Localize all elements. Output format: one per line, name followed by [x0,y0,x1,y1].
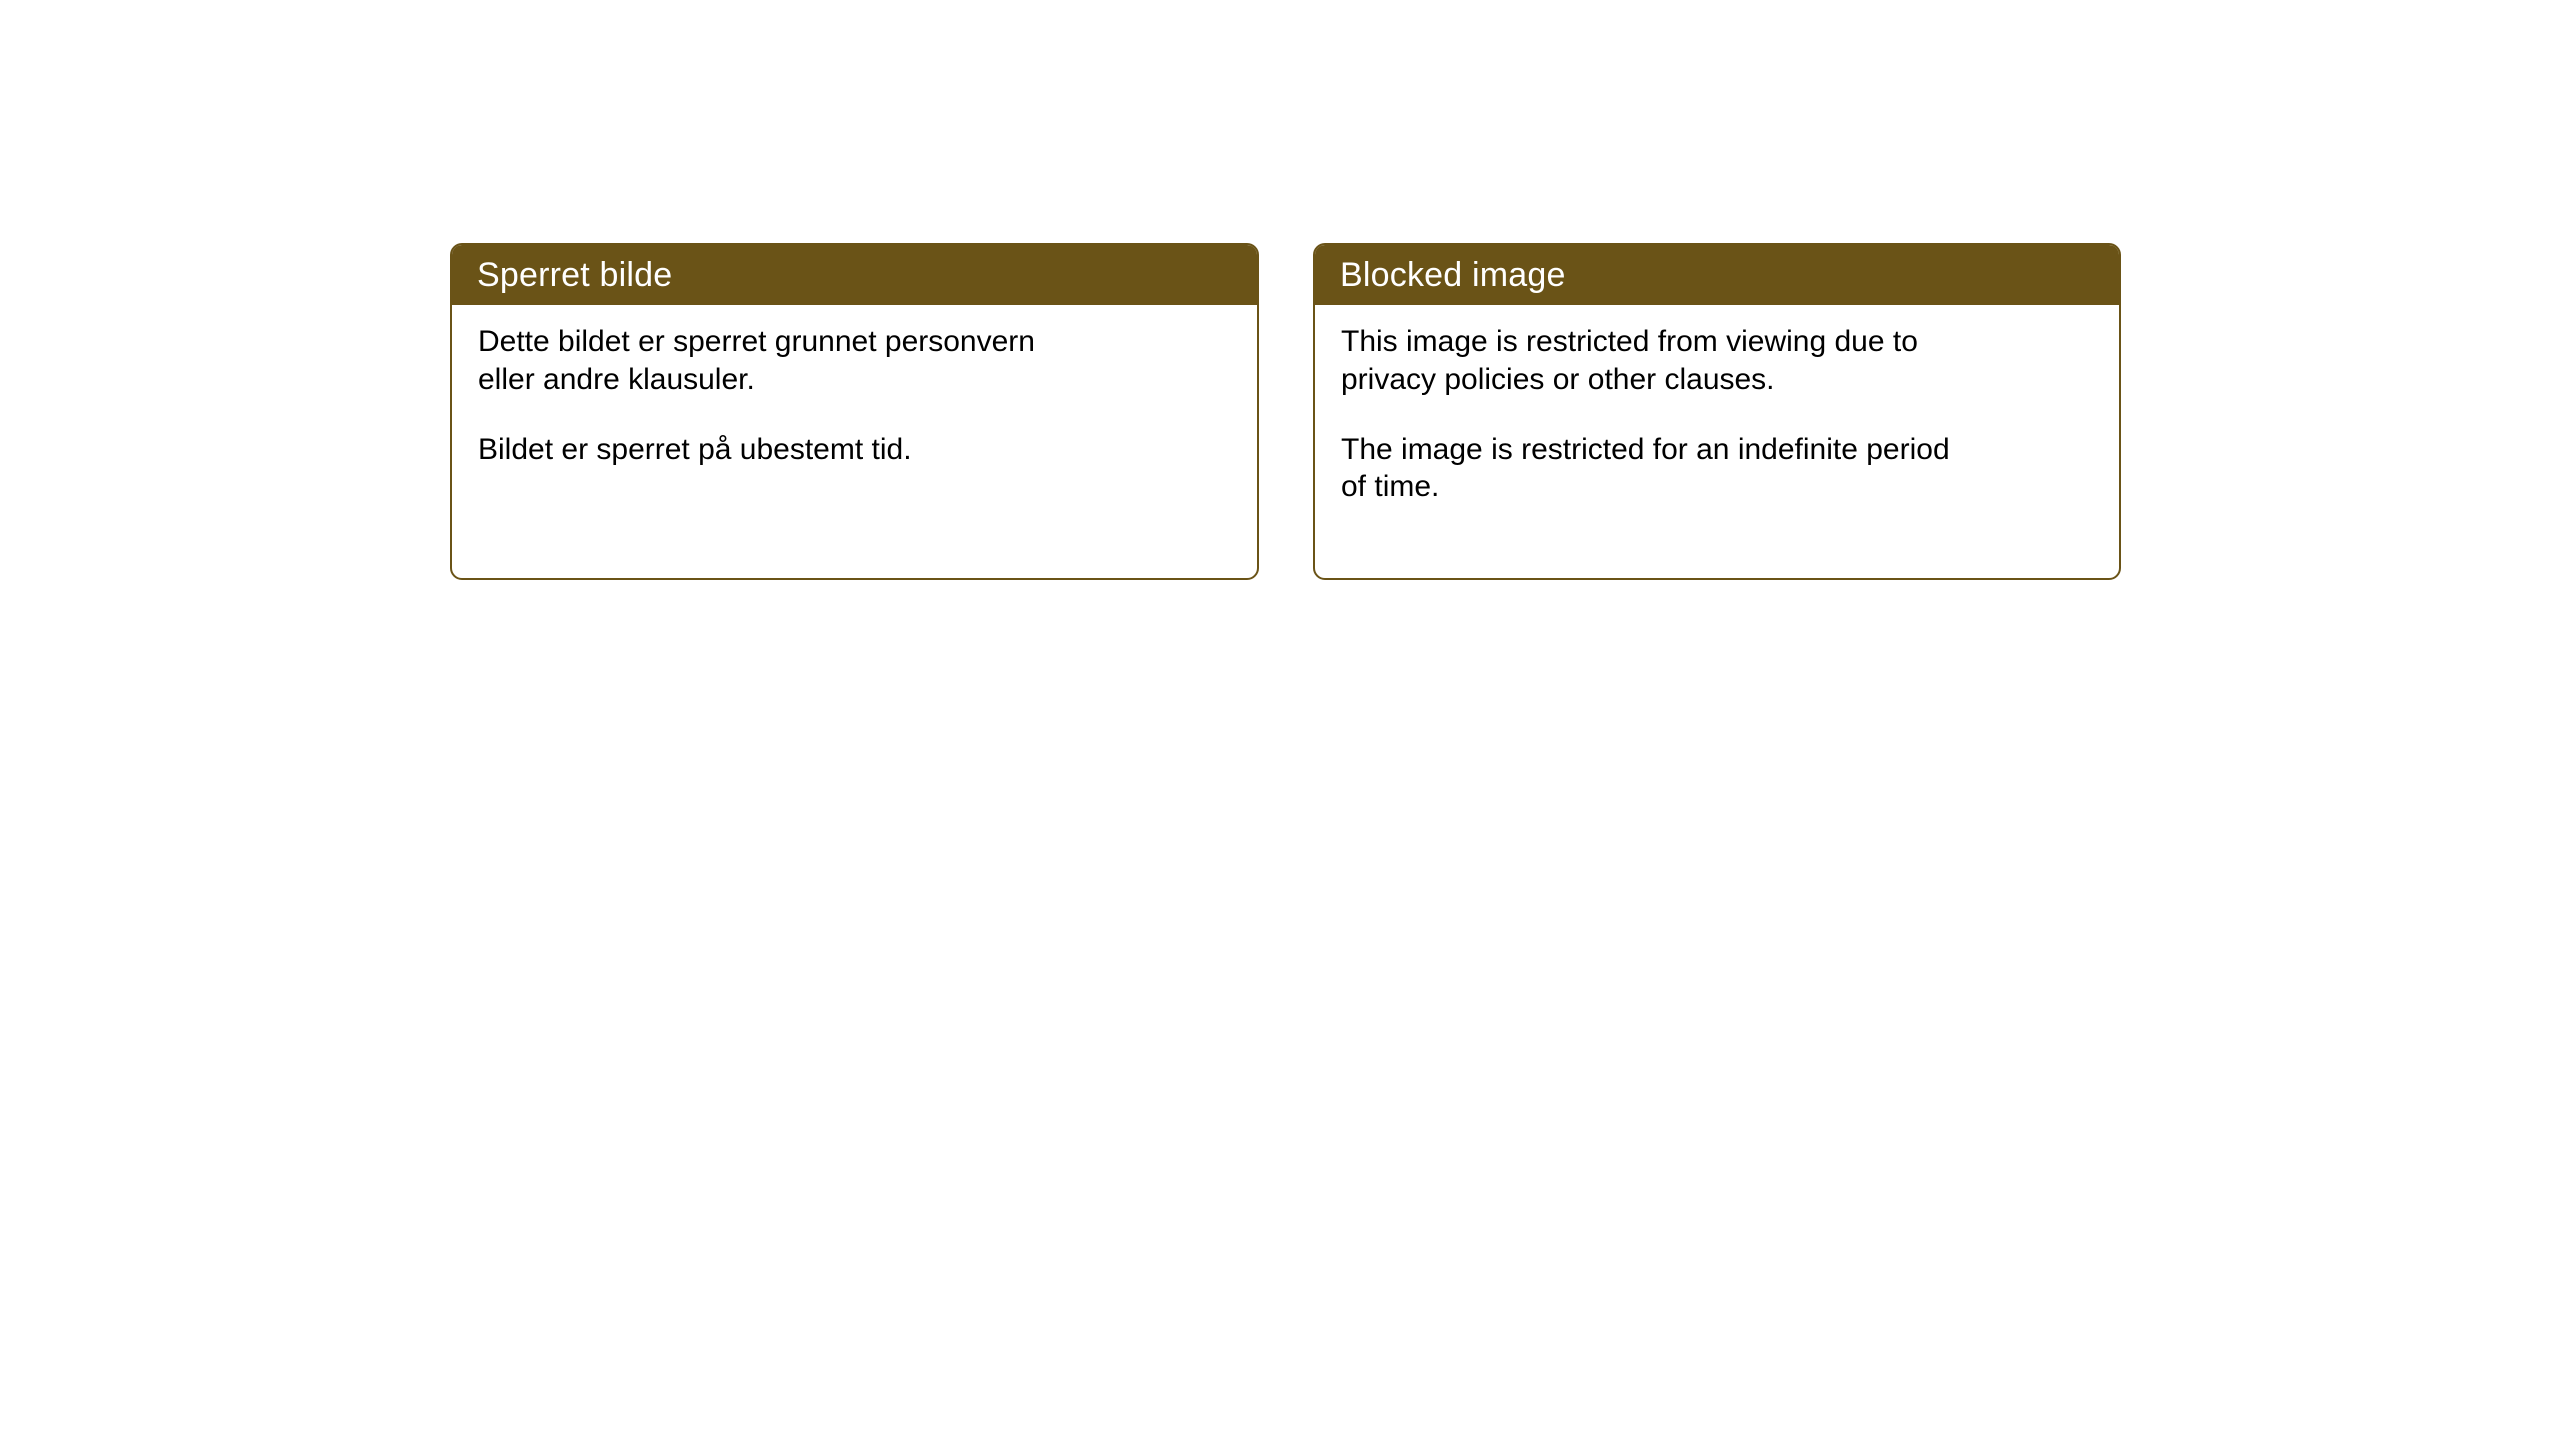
notice-title-english: Blocked image [1340,258,1566,292]
notice-paragraph-secondary-norwegian: Bildet er sperret på ubestemt tid. [478,431,1235,469]
blocked-image-notice-card-norwegian: Sperret bilde Dette bildet er sperret gr… [450,243,1259,580]
notice-paragraph-primary-english: This image is restricted from viewing du… [1341,323,2097,399]
notice-body-english: This image is restricted from viewing du… [1315,305,2119,506]
notice-title-norwegian: Sperret bilde [477,258,672,292]
blocked-image-notice-card-english: Blocked image This image is restricted f… [1313,243,2121,580]
paragraph-spacer [1341,399,2097,431]
notice-body-norwegian: Dette bildet er sperret grunnet personve… [452,305,1257,468]
page-canvas: Sperret bilde Dette bildet er sperret gr… [0,0,2560,1440]
notice-header-english: Blocked image [1315,245,2119,305]
notice-header-norwegian: Sperret bilde [452,245,1257,305]
notice-paragraph-primary-norwegian: Dette bildet er sperret grunnet personve… [478,323,1235,399]
paragraph-spacer [478,399,1235,431]
notice-paragraph-secondary-english: The image is restricted for an indefinit… [1341,431,2097,507]
